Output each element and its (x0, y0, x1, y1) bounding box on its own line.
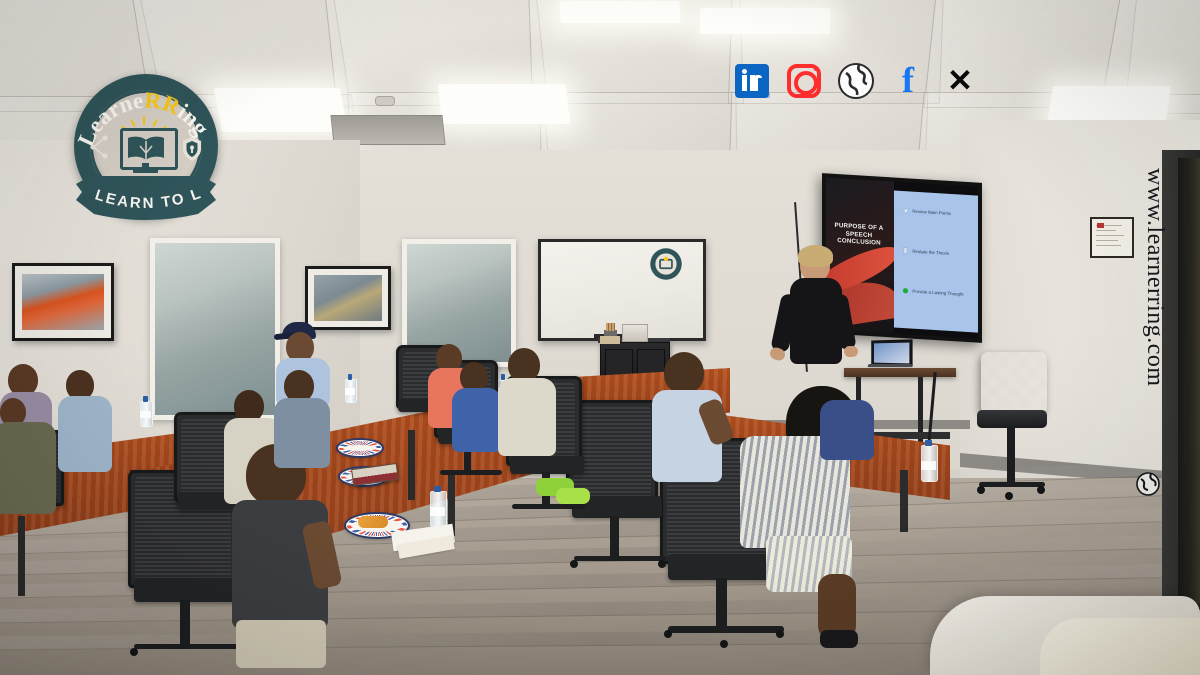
student-torso (274, 398, 330, 468)
chair-base (134, 644, 244, 649)
markers (606, 323, 615, 331)
chair-seat (134, 578, 240, 602)
student (270, 370, 332, 470)
slide-title: PURPOSE OF A SPEECH CONCLUSION (830, 222, 888, 248)
student-torso (0, 422, 56, 514)
student (232, 444, 338, 674)
water-bottle (921, 440, 936, 480)
globe-icon[interactable] (837, 62, 875, 100)
presenter-torso (790, 278, 842, 364)
chair-post (180, 600, 190, 648)
stool-caster (1005, 492, 1013, 500)
document-icon (902, 247, 909, 254)
leather-stool (975, 352, 1047, 512)
slide-right-panel: Review Main Points Restate the Thesis Pr… (894, 191, 978, 333)
tissue-box (622, 324, 648, 342)
stool-post (1007, 426, 1015, 484)
water-bottle (140, 396, 151, 425)
presenter (770, 248, 860, 388)
student-torso (498, 378, 556, 456)
student-torso (58, 396, 112, 472)
student-shoe (556, 488, 590, 504)
doorway[interactable] (1178, 158, 1200, 603)
website-url[interactable]: www.learnerring.com (1128, 168, 1168, 468)
social-icons-bar: ® f ✕ (733, 58, 995, 104)
presenter-hair (798, 245, 833, 267)
framed-photo-aircraft (305, 266, 391, 330)
chair-caster (720, 640, 728, 648)
ceiling-light (700, 8, 830, 34)
student-shorts (236, 620, 326, 668)
learnerring-logo: LearneRRing (66, 70, 226, 230)
chair-caster (658, 560, 666, 568)
student (56, 370, 114, 474)
slide-bullet-text: Restate the Thesis (912, 249, 949, 256)
stool-base (979, 482, 1045, 487)
chair-caster (664, 630, 672, 638)
storage-box (600, 336, 620, 344)
chair-post (610, 516, 619, 560)
stool-backrest (981, 352, 1047, 414)
helicopter-photo (22, 274, 105, 330)
open-book-icon (125, 134, 167, 162)
ceiling-light (559, 1, 680, 23)
x-twitter-icon[interactable]: ✕ (941, 62, 979, 100)
instagram-icon[interactable] (785, 62, 823, 100)
stool-caster (977, 486, 985, 494)
green-dot-icon (902, 287, 909, 294)
linkedin-icon[interactable]: ® (733, 62, 771, 100)
student (0, 398, 62, 518)
node-network-icon (88, 132, 110, 162)
ceiling-light (214, 88, 349, 132)
smoke-detector-icon (375, 96, 395, 106)
logo-tagline-banner: LEARN TO LEAD (70, 170, 222, 228)
chair-caster (130, 648, 138, 656)
chair-base (574, 556, 666, 561)
student (498, 348, 558, 458)
facebook-icon[interactable]: f (889, 62, 927, 100)
certificate-paper (1092, 219, 1132, 256)
student-torso (452, 388, 502, 452)
paper-plane-icon (902, 207, 909, 214)
whiteboard-logo-decal (649, 247, 683, 281)
student-shoe (820, 630, 858, 648)
chair-post (716, 578, 727, 630)
slide-bullet: Review Main Points (902, 207, 976, 219)
student (652, 352, 726, 482)
laptop-keyboard (867, 364, 912, 367)
student-head (664, 352, 704, 394)
ceiling-light (438, 84, 570, 124)
slide-bullet: Provide a Lasting Thought (902, 287, 976, 299)
aircraft-photo (314, 275, 383, 320)
slide-bullet: Restate the Thesis (902, 247, 976, 259)
photo-mat (308, 269, 388, 327)
slide-bullet-text: Review Main Points (912, 209, 951, 216)
chair-caster (570, 560, 578, 568)
foreground-cloth-fold (1040, 618, 1200, 675)
credenza-door (605, 349, 633, 377)
certificate-seal (1097, 223, 1104, 228)
laptop (868, 340, 912, 372)
water-bottle (345, 374, 355, 401)
globe-icon (1136, 472, 1160, 496)
table-leg (900, 470, 908, 532)
presenter-hand (844, 346, 858, 357)
laptop-display (874, 343, 909, 364)
student (820, 400, 880, 480)
slide-bullet-text: Provide a Lasting Thought (912, 289, 963, 297)
photo-mat (15, 266, 111, 338)
shield-icon (182, 136, 202, 162)
framed-photo-helicopter (12, 263, 114, 341)
chair-base (440, 470, 502, 475)
chair-base (512, 504, 586, 509)
snack-food (358, 516, 388, 528)
laptop-screen (871, 339, 912, 366)
paper-plate (336, 438, 384, 458)
student-head (508, 348, 540, 382)
photo-scene: PURPOSE OF A SPEECH CONCLUSION Review Ma… (0, 0, 1200, 675)
student-torso (820, 400, 874, 460)
stool-caster (1037, 486, 1045, 494)
student (452, 362, 504, 454)
